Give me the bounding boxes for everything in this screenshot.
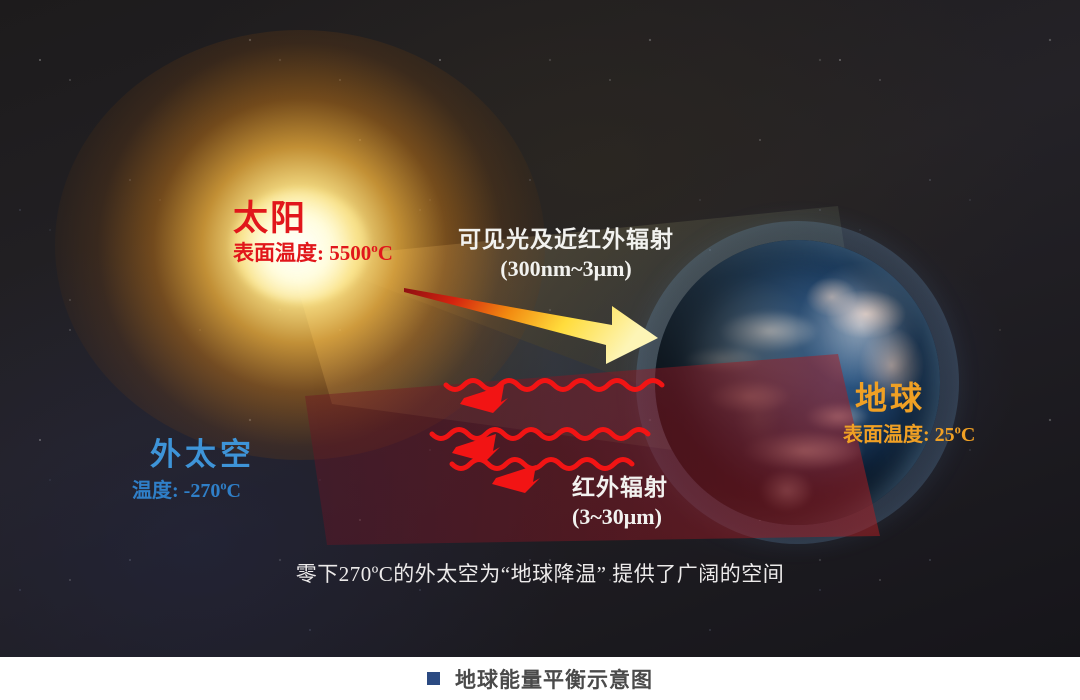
sun-title: 太阳 [233, 198, 393, 239]
outer-space-label: 外太空 温度: -270oC [150, 437, 255, 503]
incoming-radiation-label: 可见光及近红外辐射 (300nm~3μm) [458, 226, 674, 282]
figure-bottom-note: 零下270ºC的外太空为“地球降温” 提供了广阔的空间 [0, 558, 1080, 588]
figure-caption: 地球能量平衡示意图 [0, 657, 1080, 700]
sun-temperature: 表面温度: 5500oC [233, 241, 393, 266]
outer-space-title: 外太空 [150, 437, 255, 474]
earth-label: 地球 表面温度: 25oC [855, 380, 975, 447]
incoming-radiation-range: (300nm~3μm) [458, 256, 674, 282]
caption-bullet-icon [427, 672, 440, 685]
energy-balance-figure: 太阳 表面温度: 5500oC 地球 表面温度: 25oC 外太空 温度: -2… [0, 0, 1080, 657]
caption-text: 地球能量平衡示意图 [455, 664, 653, 694]
incoming-radiation-title: 可见光及近红外辐射 [458, 226, 674, 253]
outgoing-radiation-title: 红外辐射 [572, 474, 668, 501]
outer-space-temperature: 温度: -270oC [132, 480, 255, 504]
earth-temperature: 表面温度: 25oC [843, 424, 975, 448]
earth-title: 地球 [855, 380, 975, 418]
outgoing-radiation-range: (3~30μm) [572, 504, 668, 530]
sun-label: 太阳 表面温度: 5500oC [233, 198, 393, 266]
outgoing-radiation-label: 红外辐射 (3~30μm) [572, 474, 668, 530]
